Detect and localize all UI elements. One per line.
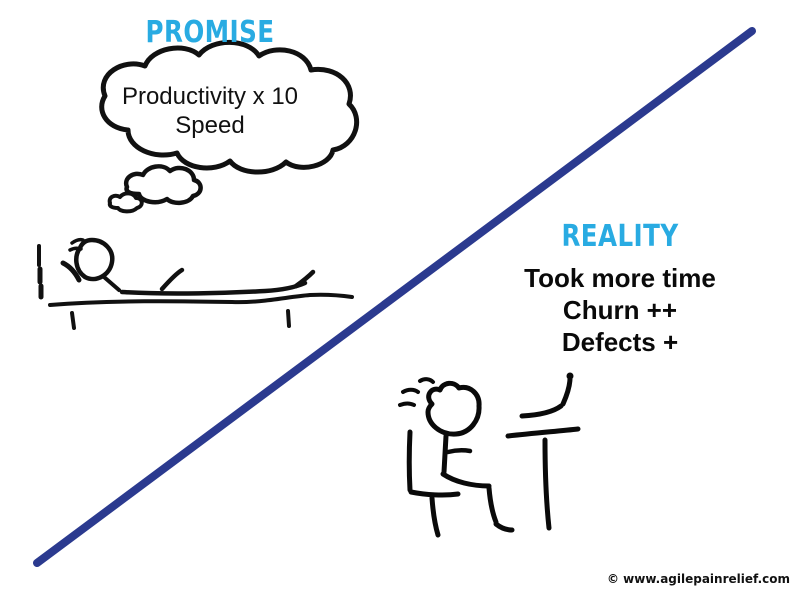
figure-lying-in-bed	[39, 240, 352, 328]
reality-title: REALITY	[538, 222, 702, 252]
thought-bubble-puff-small	[110, 193, 142, 211]
thought-bubble-text: Productivity x 10 Speed	[75, 82, 345, 141]
meme-canvas: PROMISE Productivity x 10 Speed REALITY …	[0, 0, 800, 600]
thought-bubble-line-1: Productivity x 10	[75, 82, 345, 111]
reality-line-2: Churn ++	[495, 295, 745, 327]
figure-stressed-at-desk	[400, 373, 578, 536]
credit-text: © www.agilepainrelief.com	[540, 572, 790, 586]
reality-text-block: Took more time Churn ++ Defects +	[495, 263, 745, 359]
reality-line-3: Defects +	[495, 327, 745, 359]
reality-line-1: Took more time	[495, 263, 745, 295]
promise-title: PROMISE	[128, 18, 292, 48]
thought-bubble-line-2: Speed	[75, 111, 345, 140]
